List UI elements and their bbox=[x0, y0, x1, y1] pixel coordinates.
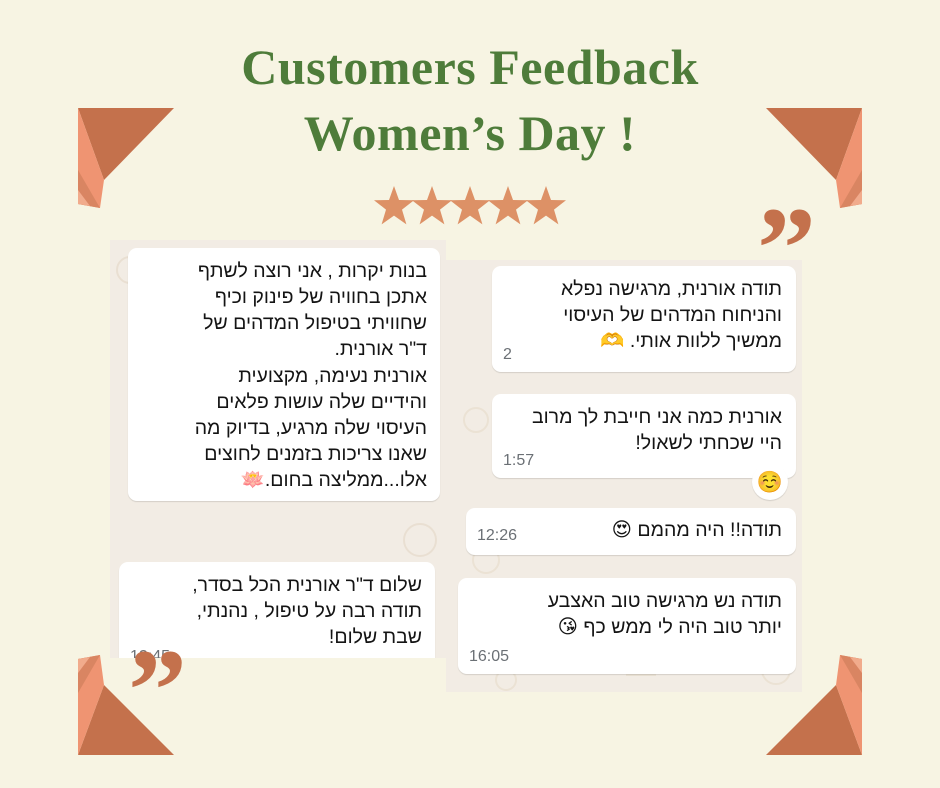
chat-bubble-timestamp: 1:57 bbox=[503, 450, 534, 471]
chat-bubble-text: אורנית כמה אני חייבת לך מרוב היי שכחתי ל… bbox=[532, 406, 782, 454]
chat-bubble-text: תודה נש מרגישה טוב האצבע יותר טוב היה לי… bbox=[548, 590, 782, 638]
poster-title: Customers Feedback Women’s Day ! bbox=[0, 34, 940, 166]
star-icon bbox=[374, 186, 414, 226]
chat-bubble-timestamp: 2 bbox=[503, 344, 512, 365]
smiling-face-emoji-glyph: ☺️ bbox=[757, 470, 783, 495]
chat-screenshot-left: בנות יקרות , אני רוצה לשתף אתכן בחוויה ש… bbox=[110, 240, 446, 658]
star-icon bbox=[412, 186, 452, 226]
chat-bubble-timestamp: 12:26 bbox=[477, 525, 517, 546]
chat-bubble: תודה נש מרגישה טוב האצבע יותר טוב היה לי… bbox=[458, 578, 796, 674]
title-line-1: Customers Feedback bbox=[0, 34, 940, 100]
chat-bubble: תודה אורנית, מרגישה נפלא והניחוח המדהים … bbox=[492, 266, 796, 372]
star-icon bbox=[488, 186, 528, 226]
chat-bubble-text: תודה!! היה מהמם bbox=[637, 519, 782, 541]
chat-screenshot-right: תודה אורנית, מרגישה נפלא והניחוח המדהים … bbox=[446, 260, 802, 692]
heart-hands-emoji: 🫶 bbox=[600, 329, 624, 352]
star-icon bbox=[526, 186, 566, 226]
title-line-2: Women’s Day ! bbox=[0, 100, 940, 166]
chat-bubble: אורנית כמה אני חייבת לך מרוב היי שכחתי ל… bbox=[492, 394, 796, 478]
lotus-emoji: 🪷 bbox=[241, 468, 265, 491]
star-icon bbox=[450, 186, 490, 226]
chat-bubble-text: שלום ד"ר אורנית הכל בסדר, תודה רבה על טי… bbox=[192, 574, 422, 648]
quote-mark-icon-top-right: ” bbox=[757, 190, 816, 308]
quote-mark-icon-bottom-left: ” bbox=[128, 632, 187, 750]
smiling-face-emoji: ☺️ bbox=[752, 464, 788, 500]
heart-eyes-emoji: 😍 bbox=[612, 518, 632, 541]
chat-bubble: בנות יקרות , אני רוצה לשתף אתכן בחוויה ש… bbox=[128, 248, 440, 501]
poster-canvas: Customers Feedback Women’s Day ! ” ” bbox=[0, 0, 940, 788]
chat-bubble-timestamp: 16:05 bbox=[469, 646, 509, 667]
chat-bubble-text: בנות יקרות , אני רוצה לשתף אתכן בחוויה ש… bbox=[195, 260, 427, 491]
kissing-heart-emoji: 😘 bbox=[558, 615, 578, 638]
chat-bubble: תודה!! היה מהמם 😍 12:26 bbox=[466, 508, 796, 555]
chat-bubble-text: תודה אורנית, מרגישה נפלא והניחוח המדהים … bbox=[561, 278, 782, 352]
